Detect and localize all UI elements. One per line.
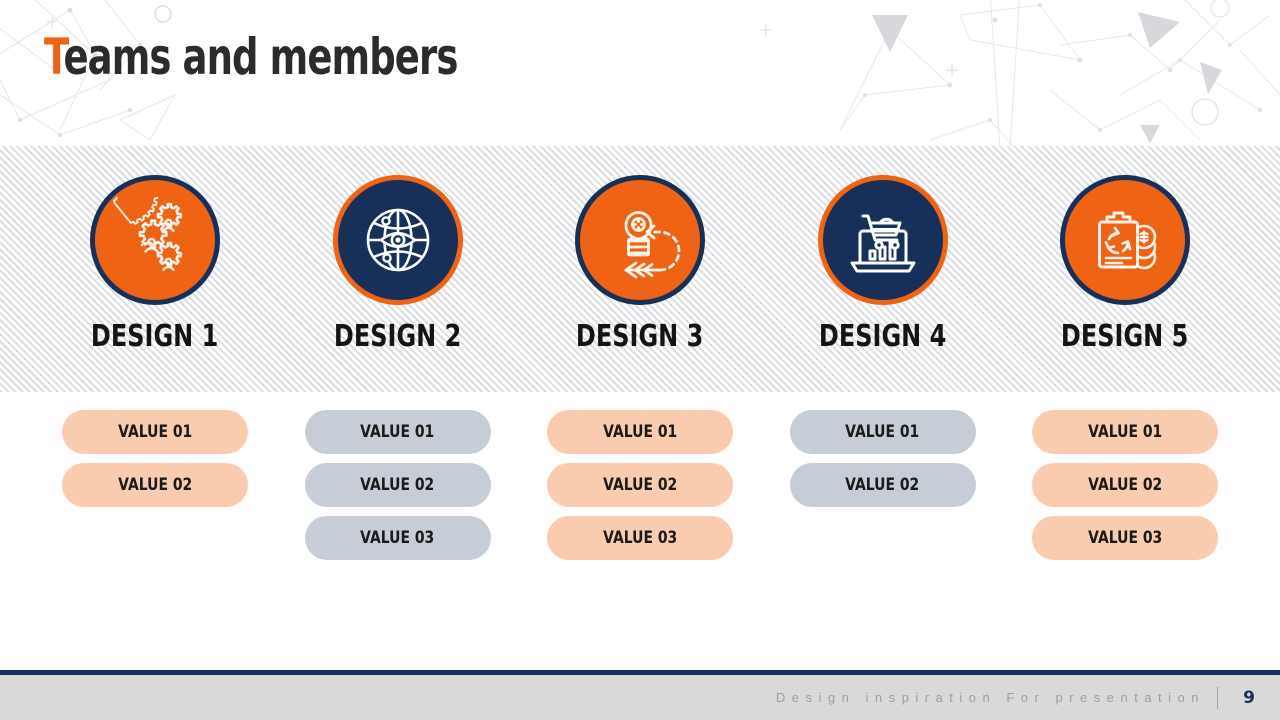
value-column-5: VALUE 01 VALUE 02 VALUE 03 (1030, 410, 1220, 560)
page-title-rest: eams and members (63, 28, 457, 86)
value-column-2: VALUE 01 VALUE 02 VALUE 03 (303, 410, 493, 560)
icon-badge-lightbulb-arrow[interactable] (575, 175, 705, 305)
value-pill-label: VALUE 02 (1088, 475, 1162, 495)
value-pill[interactable]: VALUE 01 (305, 410, 491, 454)
slide-footer: Design inspiration For presentation 9 (0, 675, 1280, 720)
value-pill-label: VALUE 03 (360, 528, 434, 548)
icon-column-1[interactable]: DESIGN 1 (60, 146, 250, 392)
icon-column-2[interactable]: DESIGN 2 (303, 146, 493, 392)
design-label-4: DESIGN 4 (819, 319, 946, 354)
icon-column-4[interactable]: DESIGN 4 (788, 146, 978, 392)
value-pill-label: VALUE 02 (360, 475, 434, 495)
gear-shape-3 (158, 243, 181, 270)
icon-badge-clipboard-recycle-coins[interactable] (1060, 175, 1190, 305)
value-pill[interactable]: VALUE 03 (547, 516, 733, 560)
value-column-1: VALUE 01 VALUE 02 (60, 410, 250, 560)
value-pill-label: VALUE 01 (118, 422, 192, 442)
icon-band: DESIGN 1 (0, 146, 1280, 392)
icon-badge-globe-eye[interactable] (333, 175, 463, 305)
value-pill[interactable]: VALUE 02 (305, 463, 491, 507)
globe-eye-icon (356, 198, 440, 282)
footer-divider (1217, 687, 1218, 709)
lightbulb-arrow-icon (597, 197, 683, 283)
icon-row: DESIGN 1 (0, 146, 1280, 392)
value-pill[interactable]: VALUE 03 (1032, 516, 1218, 560)
design-label-5: DESIGN 5 (1061, 319, 1188, 354)
page-title: Teams and members (44, 24, 457, 90)
constellation-decoration-right (660, 0, 1280, 146)
design-label-2: DESIGN 2 (334, 319, 461, 354)
icon-column-5[interactable]: DESIGN 5 (1030, 146, 1220, 392)
page-number: 9 (1238, 688, 1260, 708)
value-pill-label: VALUE 01 (1088, 422, 1162, 442)
value-pill-label: VALUE 01 (845, 422, 919, 442)
values-row: VALUE 01 VALUE 02 VALUE 01 VALUE 02 VALU… (0, 410, 1280, 560)
eye-shape (381, 233, 415, 247)
design-label-1: DESIGN 1 (91, 319, 218, 354)
value-pill-label: VALUE 03 (1088, 528, 1162, 548)
value-pill[interactable]: VALUE 01 (790, 410, 976, 454)
value-column-3: VALUE 01 VALUE 02 VALUE 03 (545, 410, 735, 560)
footer-caption: Design inspiration For presentation (776, 690, 1205, 705)
laptop-cart-chart-icon (840, 197, 926, 283)
icon-badge-laptop-cart-chart[interactable] (818, 175, 948, 305)
value-pill-label: VALUE 01 (603, 422, 677, 442)
icon-column-3[interactable]: DESIGN 3 (545, 146, 735, 392)
icon-badge-gears-people[interactable] (90, 175, 220, 305)
value-pill-label: VALUE 02 (603, 475, 677, 495)
value-pill[interactable]: VALUE 02 (790, 463, 976, 507)
value-pill-label: VALUE 02 (845, 475, 919, 495)
value-pill[interactable]: VALUE 01 (1032, 410, 1218, 454)
page-title-accent-letter: T (44, 28, 63, 86)
value-pill[interactable]: VALUE 02 (62, 463, 248, 507)
value-pill[interactable]: VALUE 01 (547, 410, 733, 454)
gears-people-icon (112, 197, 198, 283)
value-pill[interactable]: VALUE 03 (305, 516, 491, 560)
value-pill[interactable]: VALUE 02 (547, 463, 733, 507)
value-column-4: VALUE 01 VALUE 02 (788, 410, 978, 560)
value-pill-label: VALUE 02 (118, 475, 192, 495)
value-pill-label: VALUE 01 (360, 422, 434, 442)
value-pill[interactable]: VALUE 02 (1032, 463, 1218, 507)
clipboard-recycle-coins-icon (1082, 197, 1168, 283)
value-pill[interactable]: VALUE 01 (62, 410, 248, 454)
presentation-slide: Teams and members (0, 0, 1280, 720)
slide-header: Teams and members (0, 0, 1280, 146)
value-pill-label: VALUE 03 (603, 528, 677, 548)
design-label-3: DESIGN 3 (576, 319, 703, 354)
